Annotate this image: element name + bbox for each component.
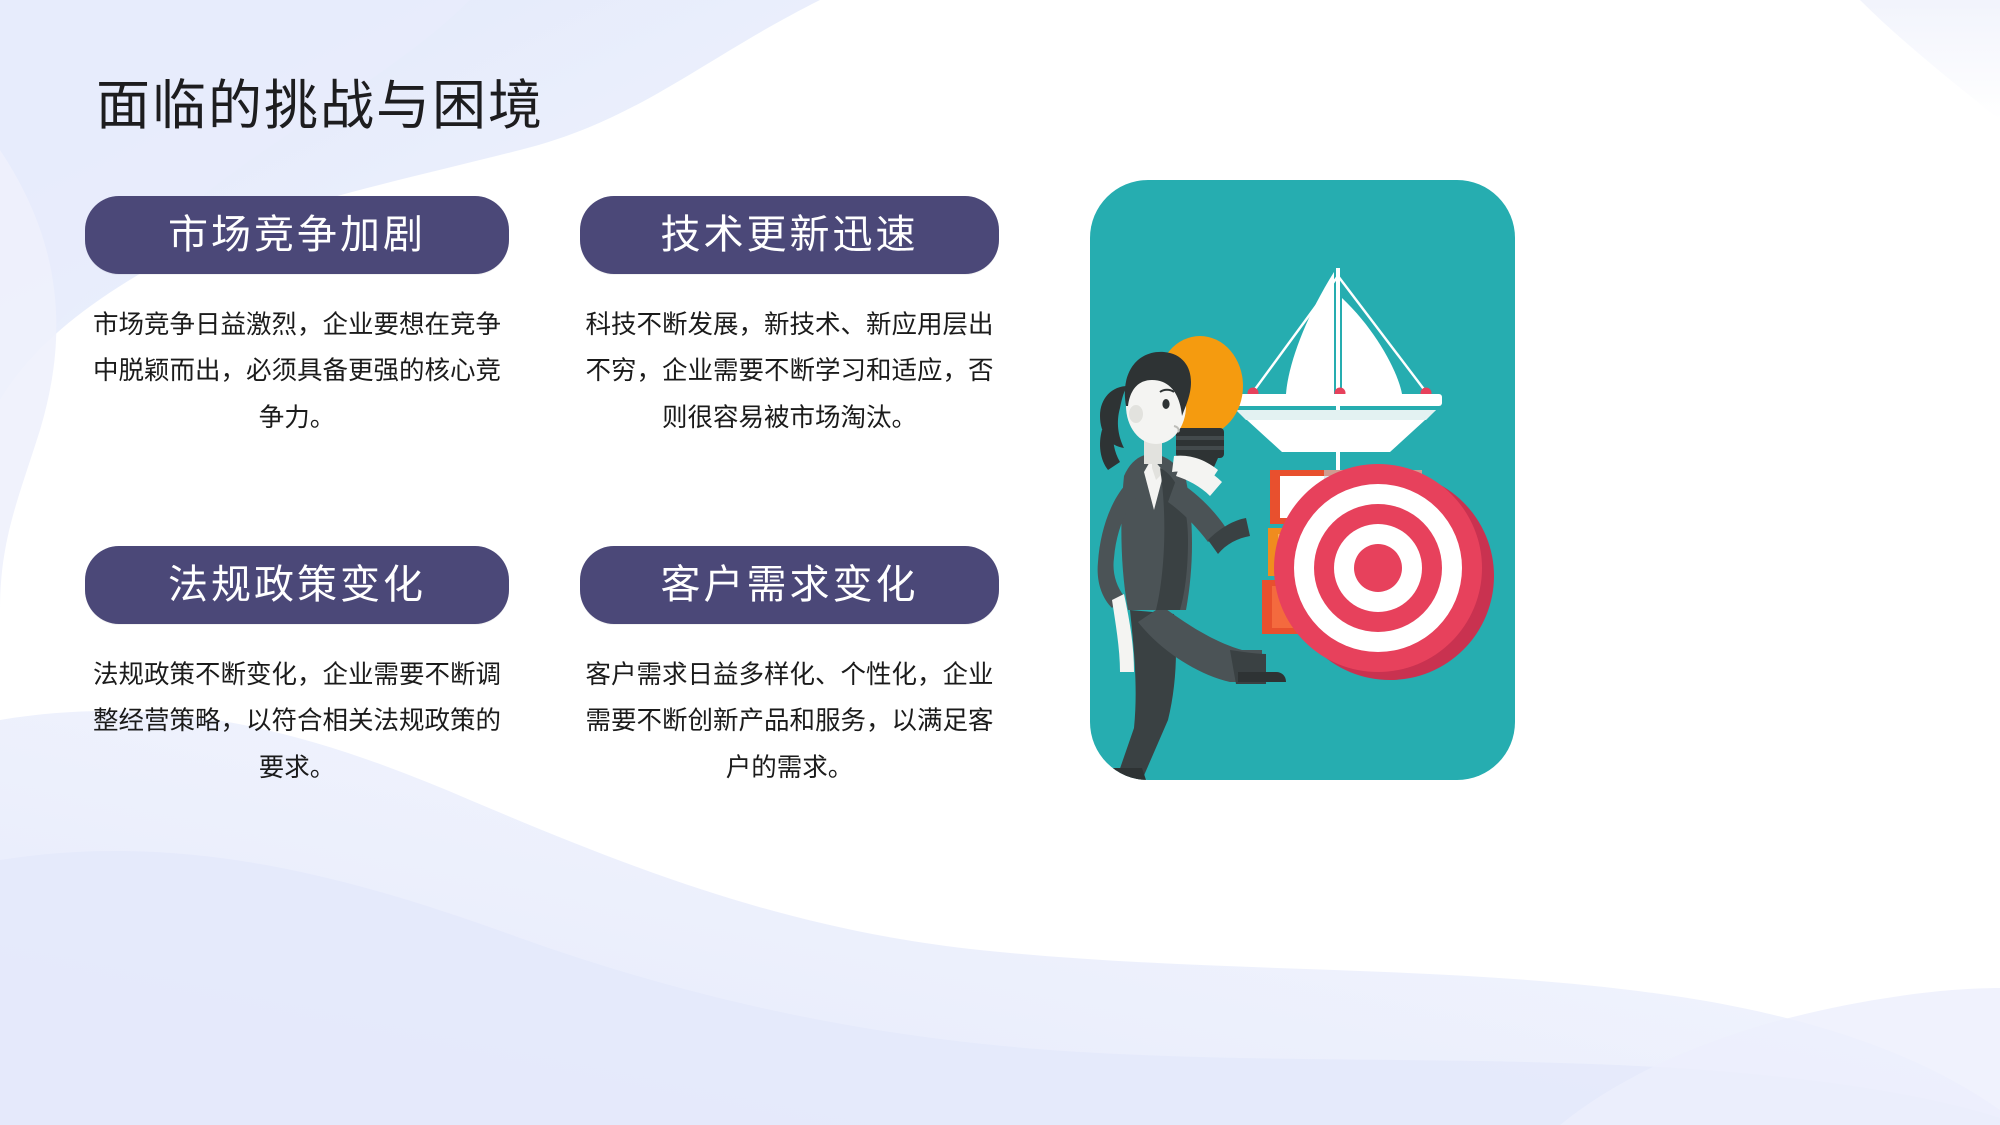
card-heading-text: 法规政策变化 bbox=[168, 565, 426, 605]
slide-root: 面临的挑战与困境 市场竞争加剧 市场竞争日益激烈，企业要想在竞争中脱颖而出，必须… bbox=[0, 0, 2000, 1125]
challenge-card-customer-demand: 客户需求变化 客户需求日益多样化、个性化，企业需要不断创新产品和服务，以满足客户… bbox=[580, 546, 999, 791]
card-heading-text: 技术更新迅速 bbox=[661, 215, 919, 255]
target-dartboard bbox=[1274, 464, 1494, 680]
business-strategy-illustration bbox=[1090, 180, 1515, 780]
card-body-text: 客户需求日益多样化、个性化，企业需要不断创新产品和服务，以满足客户的需求。 bbox=[580, 652, 999, 791]
challenge-card-technology-update: 技术更新迅速 科技不断发展，新技术、新应用层出不穷，企业需要不断学习和适应，否则… bbox=[580, 196, 999, 441]
card-heading-text: 市场竞争加剧 bbox=[168, 215, 426, 255]
card-body-text: 法规政策不断变化，企业需要不断调整经营策略，以符合相关法规政策的要求。 bbox=[85, 652, 509, 791]
challenge-card-market-competition: 市场竞争加剧 市场竞争日益激烈，企业要想在竞争中脱颖而出，必须具备更强的核心竞争… bbox=[85, 196, 509, 441]
card-heading-text: 客户需求变化 bbox=[661, 565, 919, 605]
card-header: 技术更新迅速 bbox=[580, 196, 999, 274]
card-header: 客户需求变化 bbox=[580, 546, 999, 624]
sailboat-icon bbox=[1230, 268, 1442, 483]
card-header: 法规政策变化 bbox=[85, 546, 509, 624]
challenge-card-regulatory-change: 法规政策变化 法规政策不断变化，企业需要不断调整经营策略，以符合相关法规政策的要… bbox=[85, 546, 509, 791]
card-body-text: 市场竞争日益激烈，企业要想在竞争中脱颖而出，必须具备更强的核心竞争力。 bbox=[85, 302, 509, 441]
card-header: 市场竞争加剧 bbox=[85, 196, 509, 274]
card-body-text: 科技不断发展，新技术、新应用层出不穷，企业需要不断学习和适应，否则很容易被市场淘… bbox=[580, 302, 999, 441]
page-title: 面临的挑战与困境 bbox=[96, 74, 544, 139]
